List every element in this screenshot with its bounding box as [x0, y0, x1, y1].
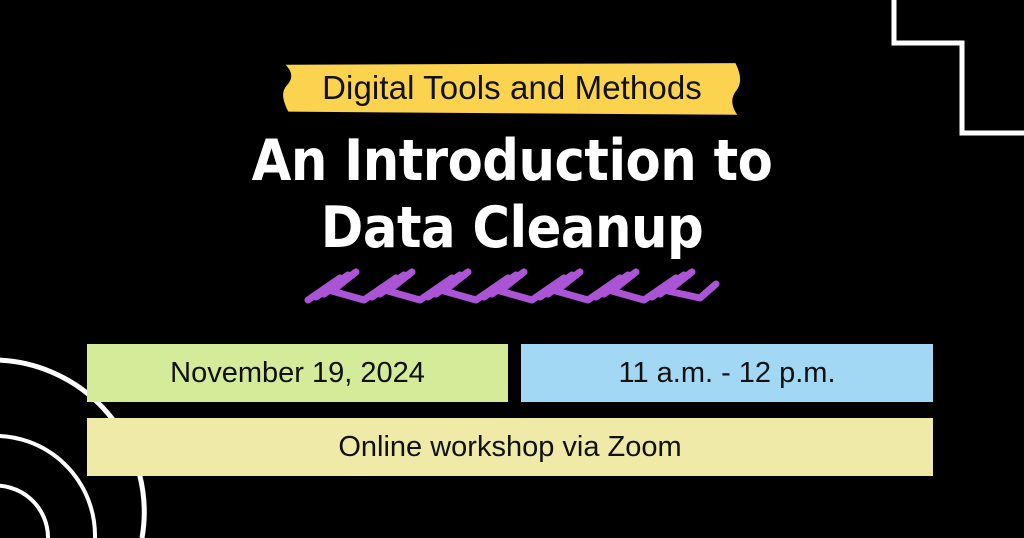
title-line-2: Data Cleanup	[0, 195, 1024, 262]
zigzag-underline-icon	[302, 264, 722, 310]
title-line-1: An Introduction to	[0, 128, 1024, 195]
event-details-row: November 19, 2024 11 a.m. - 12 p.m.	[87, 344, 933, 402]
event-date-box: November 19, 2024	[87, 344, 508, 402]
eyebrow-banner: Digital Tools and Methods	[0, 52, 1024, 126]
event-poster: Digital Tools and Methods An Introductio…	[0, 0, 1024, 538]
tape-shape: Digital Tools and Methods	[280, 60, 744, 118]
event-time-box: 11 a.m. - 12 p.m.	[521, 344, 933, 402]
zigzag-underline-wrap	[0, 264, 1024, 310]
poster-title: An Introduction to Data Cleanup	[0, 128, 1024, 261]
event-venue-box: Online workshop via Zoom	[87, 418, 933, 476]
eyebrow-label: Digital Tools and Methods	[322, 69, 702, 106]
